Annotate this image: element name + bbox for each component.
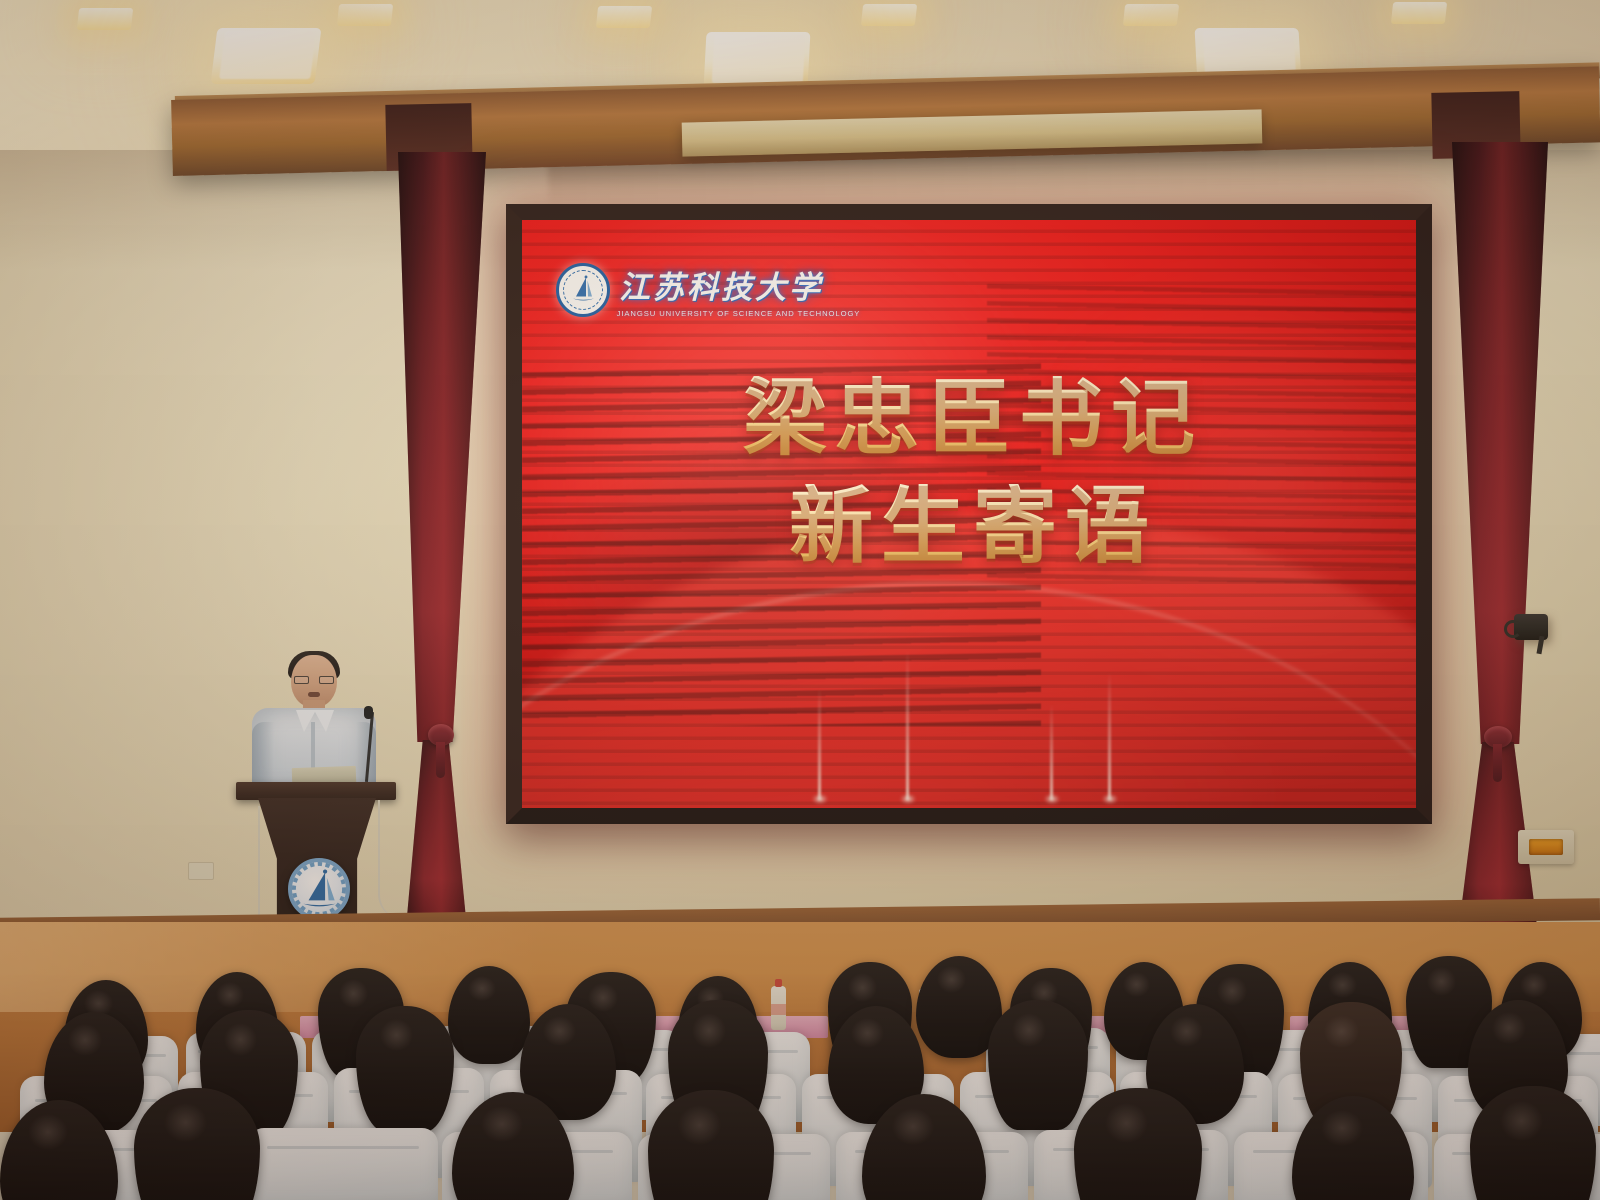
light-streak-glow (1102, 794, 1118, 804)
speaker-mouth (308, 692, 320, 697)
light-streak (818, 688, 821, 800)
sail-glyph (570, 275, 596, 303)
university-name-cn: 江苏科技大学 (619, 262, 858, 307)
microphone-icon (364, 706, 373, 719)
audience-head (648, 1090, 774, 1200)
slide-title-line-2: 新生寄语 (781, 484, 1157, 568)
podium-cable (378, 800, 404, 920)
light-streak (906, 650, 909, 800)
speaker-arm-left (252, 722, 274, 788)
podium-emblem-icon (288, 858, 350, 920)
audience-head (1470, 1086, 1596, 1200)
slide-title-line-1: 梁忠臣书记 (735, 376, 1203, 460)
light-streak-glow (900, 794, 916, 804)
ceiling-large-light (704, 32, 811, 88)
ceiling-small-light (1123, 4, 1179, 26)
ceiling-large-light (211, 28, 322, 84)
audience-head (356, 1006, 454, 1132)
wall-control-panel[interactable] (1518, 830, 1574, 864)
light-streak-glow (812, 794, 828, 804)
light-streak (1050, 704, 1053, 800)
water-bottle (771, 986, 786, 1030)
light-streak (1108, 672, 1111, 800)
ceiling-small-light (77, 8, 133, 30)
auditorium-photo: 江苏科技大学 JIANGSU UNIVERSITY OF SCIENCE AND… (0, 0, 1600, 1200)
podium-sail-glyph (292, 862, 346, 916)
chair (248, 1128, 438, 1200)
power-outlet[interactable] (188, 862, 214, 880)
audience-head (988, 1000, 1088, 1130)
ceiling-small-light (861, 4, 917, 26)
ceiling-small-light (1391, 2, 1447, 24)
led-screen-surface: 江苏科技大学 JIANGSU UNIVERSITY OF SCIENCE AND… (522, 220, 1416, 808)
slide-title: 梁忠臣书记 新生寄语 (522, 376, 1416, 568)
eyeglasses-icon (294, 676, 334, 684)
curtain-tassel-right (1493, 744, 1502, 782)
ceiling-small-light (596, 6, 652, 28)
podium-lectern-top (236, 782, 396, 800)
university-logo: 江苏科技大学 JIANGSU UNIVERSITY OF SCIENCE AND… (556, 262, 858, 318)
light-streak-glow (1044, 794, 1060, 804)
ceiling-small-light (337, 4, 393, 26)
university-logo-text: 江苏科技大学 JIANGSU UNIVERSITY OF SCIENCE AND… (619, 262, 858, 318)
audience-head (1074, 1088, 1202, 1200)
curtain-tassel-left (436, 742, 445, 778)
led-screen[interactable]: 江苏科技大学 JIANGSU UNIVERSITY OF SCIENCE AND… (506, 204, 1432, 824)
sailboat-emblem-icon (556, 263, 610, 317)
university-name-en: JIANGSU UNIVERSITY OF SCIENCE AND TECHNO… (617, 309, 861, 318)
audience-head (134, 1088, 260, 1200)
